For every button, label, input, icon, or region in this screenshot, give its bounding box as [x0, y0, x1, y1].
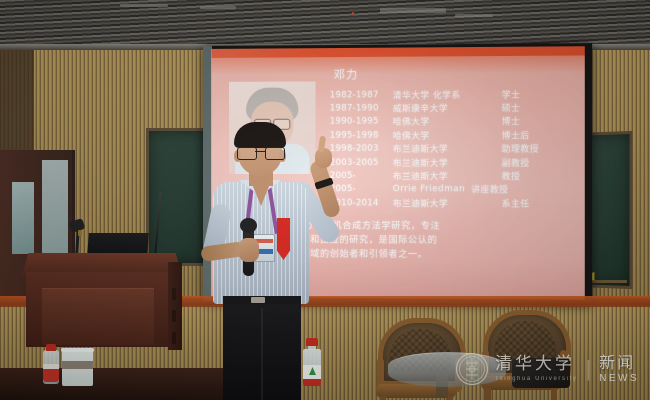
speaker-hand-left	[239, 238, 259, 262]
glasses-bridge	[255, 151, 265, 152]
table-row: 2010-2014 布兰迪斯大学 系主任	[330, 196, 573, 210]
cv-years: 1998-2003	[330, 144, 393, 154]
cv-institution: 布兰迪斯大学	[393, 197, 502, 209]
watermark-university-en: Tsinghua University	[495, 376, 577, 382]
table-row: 1987-1990 威斯康辛大学 硕士	[330, 101, 573, 115]
table-row: 2005- 布兰迪斯大学 教授	[330, 169, 573, 183]
podium-front-panel	[42, 288, 154, 345]
podium-notch	[172, 288, 176, 300]
cv-years: 2003-2005	[330, 157, 393, 167]
podium-notch	[172, 332, 176, 344]
cv-rank: 博士	[502, 115, 573, 127]
table-row: 2005- Orrie Friedman 讲座教授	[330, 183, 573, 197]
table-row: 1998-2003 布兰迪斯大学 助理教授	[330, 142, 573, 156]
bottle-cap	[46, 344, 56, 351]
cv-rank: 教授	[502, 170, 573, 182]
glasses-lens-right	[265, 147, 285, 160]
cv-years: 1990-1995	[330, 117, 393, 127]
belt-buckle	[251, 297, 265, 303]
slide-cv-table: 1982-1987 清华大学 化学系 学士 1987-1990 威斯康辛大学 硕…	[330, 87, 573, 210]
cv-rank: 硕士	[502, 102, 573, 114]
watermark-university-cn: 清华大学	[495, 356, 577, 373]
bottle-label-stripe	[43, 364, 59, 369]
trouser-crease	[261, 308, 263, 400]
watermark-divider: |	[585, 356, 591, 382]
microphone-base	[78, 230, 82, 236]
ceiling-vent	[455, 14, 493, 17]
cv-institution: 布兰迪斯大学	[393, 143, 502, 155]
cv-rank: 讲座教授	[471, 184, 572, 196]
cv-rank: 副教授	[502, 156, 573, 168]
table-row: 1995-1998 哈佛大学 博士后	[330, 128, 573, 142]
door-glass-panel	[12, 182, 34, 254]
watermark-news-en: NEWS	[599, 374, 639, 384]
watermark: 清华大学 Tsinghua University | 新闻 NEWS	[455, 344, 647, 394]
ceiling-vent	[200, 6, 236, 9]
microphone-head	[240, 218, 257, 233]
eyeglasses-icon	[237, 147, 283, 158]
cv-institution: 布兰迪斯大学	[393, 156, 502, 168]
cv-years: 1995-1998	[330, 130, 393, 140]
podium-notch	[172, 310, 176, 322]
cv-rank: 学士	[502, 88, 573, 101]
table-row: 1982-1987 清华大学 化学系 学士	[330, 87, 573, 102]
cv-years: 1982-1987	[330, 90, 393, 100]
cv-rank: 博士后	[502, 129, 573, 141]
ceiling-vent	[120, 4, 168, 7]
paper-cup[interactable]	[62, 348, 93, 386]
tsinghua-seal-icon	[455, 352, 489, 386]
ceiling-vent	[380, 8, 446, 13]
glasses-lens-left	[237, 147, 257, 160]
cv-years: 2005-	[330, 185, 393, 195]
cv-institution: 哈佛大学	[393, 115, 502, 127]
cup-lip	[61, 348, 94, 352]
table-row: 2003-2005 布兰迪斯大学 副教授	[330, 156, 573, 170]
cv-years: 1987-1990	[330, 103, 393, 113]
presentation-photo: 邓力 1982-1987 清华大学 化学系 学士 1987-1990 威斯康辛大…	[0, 0, 650, 400]
cv-institution: Orrie Friedman	[393, 185, 465, 195]
cv-institution: 哈佛大学	[393, 129, 502, 141]
cv-rank: 助理教授	[502, 143, 573, 155]
cv-institution: 布兰迪斯大学	[393, 170, 502, 182]
ceiling-slats	[0, 0, 650, 48]
cv-years: 2005-	[330, 171, 393, 181]
speaker-person	[205, 126, 335, 400]
table-row: 1990-1995 哈佛大学 博士	[330, 115, 573, 129]
cv-institution: 威斯康辛大学	[393, 102, 502, 115]
cup-band	[62, 361, 93, 369]
cv-rank: 系主任	[502, 197, 573, 209]
chair-leg	[380, 396, 386, 400]
watermark-news-cn: 新闻	[599, 355, 639, 371]
water-bottle[interactable]	[43, 344, 59, 384]
speaker-hair	[234, 122, 286, 148]
cv-institution: 清华大学 化学系	[393, 88, 502, 101]
slide-title: 邓力	[334, 66, 358, 82]
laptop[interactable]	[87, 233, 149, 255]
ceiling-indicator-light	[352, 12, 354, 15]
